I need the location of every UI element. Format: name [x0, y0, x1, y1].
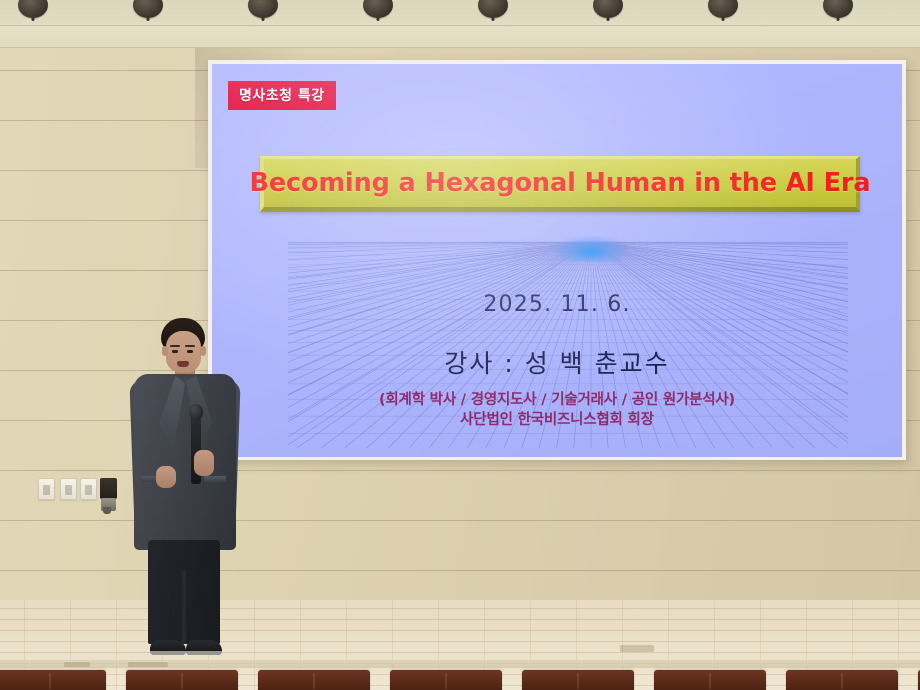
slide-organization: 사단법인 한국비즈니스협회 회장 — [212, 408, 902, 429]
vanishing-point-glow — [554, 236, 628, 262]
ceiling-soffit — [0, 26, 920, 48]
presenter-shoe-right — [186, 640, 222, 655]
auditorium-scene: 명사초청 특강 Becoming a Hexagonal Human in th… — [0, 0, 920, 690]
presenter-pocket-right — [204, 476, 226, 482]
wall-switch-plate-2[interactable] — [60, 478, 77, 500]
slide-date: 2025. 11. 6. — [212, 292, 902, 317]
slide-credentials: (회계학 박사 / 경영지도사 / 기술거래사 / 공인 원가분석사) — [212, 388, 902, 409]
presenter-ear-right — [200, 346, 206, 356]
floor-marking-center — [128, 662, 168, 667]
audience-chair — [654, 670, 766, 690]
presenter-shoe-left — [150, 640, 186, 655]
audience-chair — [258, 670, 370, 690]
presenter-brow-left — [170, 345, 180, 347]
audience-chair — [390, 670, 502, 690]
projection-screen: 명사초청 특강 Becoming a Hexagonal Human in th… — [212, 64, 902, 457]
wall-sensor-device — [100, 478, 117, 499]
presenter-leg-split — [182, 570, 186, 644]
presenter-eye-right — [187, 350, 193, 353]
lecture-badge: 명사초청 특강 — [228, 81, 336, 110]
presenter-eye-left — [172, 350, 178, 353]
audience-chair — [786, 670, 898, 690]
presenter-brow-right — [185, 345, 195, 347]
floor-object-right — [620, 645, 654, 652]
presenter-blazer — [134, 374, 236, 550]
floor-seam — [116, 600, 117, 690]
floor-seam — [254, 600, 255, 690]
slide-title-banner: Becoming a Hexagonal Human in the AI Era — [260, 156, 860, 212]
wall-switch-plate-1[interactable] — [38, 478, 55, 500]
floor-marking-left — [64, 662, 90, 667]
audience-chair — [522, 670, 634, 690]
slide-title-text: Becoming a Hexagonal Human in the AI Era — [250, 168, 871, 198]
presenter-hand-left — [156, 466, 176, 488]
audience-chair — [126, 670, 238, 690]
presenter-hand-right — [194, 450, 214, 476]
presenter-figure — [128, 318, 240, 660]
wall-spigot-icon — [101, 498, 116, 511]
presenter-ear-left — [162, 346, 168, 356]
wall-switch-plate-3[interactable] — [80, 478, 97, 500]
presenter-mouth — [177, 361, 189, 367]
floor-seam — [898, 600, 899, 690]
slide-speaker-name: 강사 : 성 백 춘교수 — [212, 344, 902, 380]
audience-chair — [0, 670, 106, 690]
